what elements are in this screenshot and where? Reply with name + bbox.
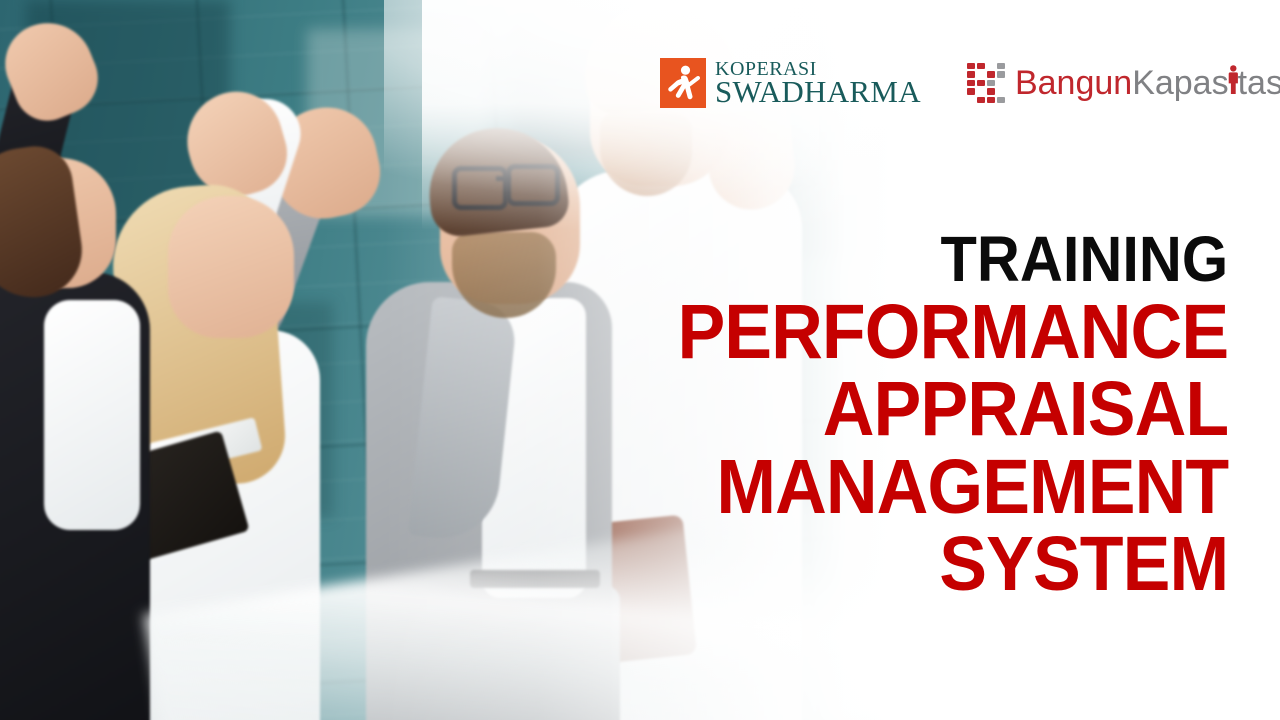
tas-text: tas [1238,64,1280,102]
title-line-3: MANAGEMENT [677,450,1228,525]
title-eyebrow: TRAINING [677,228,1228,291]
dot-matrix-icon [967,63,1005,103]
title-line-2: APPRAISAL [677,372,1228,447]
logo-row: KOPERASI SWADHARMA BangunKapastas [660,58,1280,108]
koperasi-line2: SWADHARMA [715,78,921,107]
running-person-icon [660,58,706,108]
koperasi-wordmark: KOPERASI SWADHARMA [715,60,921,107]
poster-title: TRAINING PERFORMANCE APPRAISAL MANAGEMEN… [636,228,1228,605]
bangunkapasitas-wordmark: BangunKapastas [1015,66,1280,100]
training-poster: KOPERASI SWADHARMA BangunKapastas TRAINI… [0,0,1280,720]
title-line-1: PERFORMANCE [677,295,1228,370]
bangunkapasitas-logo: BangunKapastas [967,63,1280,103]
koperasi-swadharma-logo: KOPERASI SWADHARMA [660,58,921,108]
title-line-4: SYSTEM [677,527,1228,602]
bangun-text: Bangun [1015,64,1132,102]
kapas-text: Kapas [1132,64,1228,102]
